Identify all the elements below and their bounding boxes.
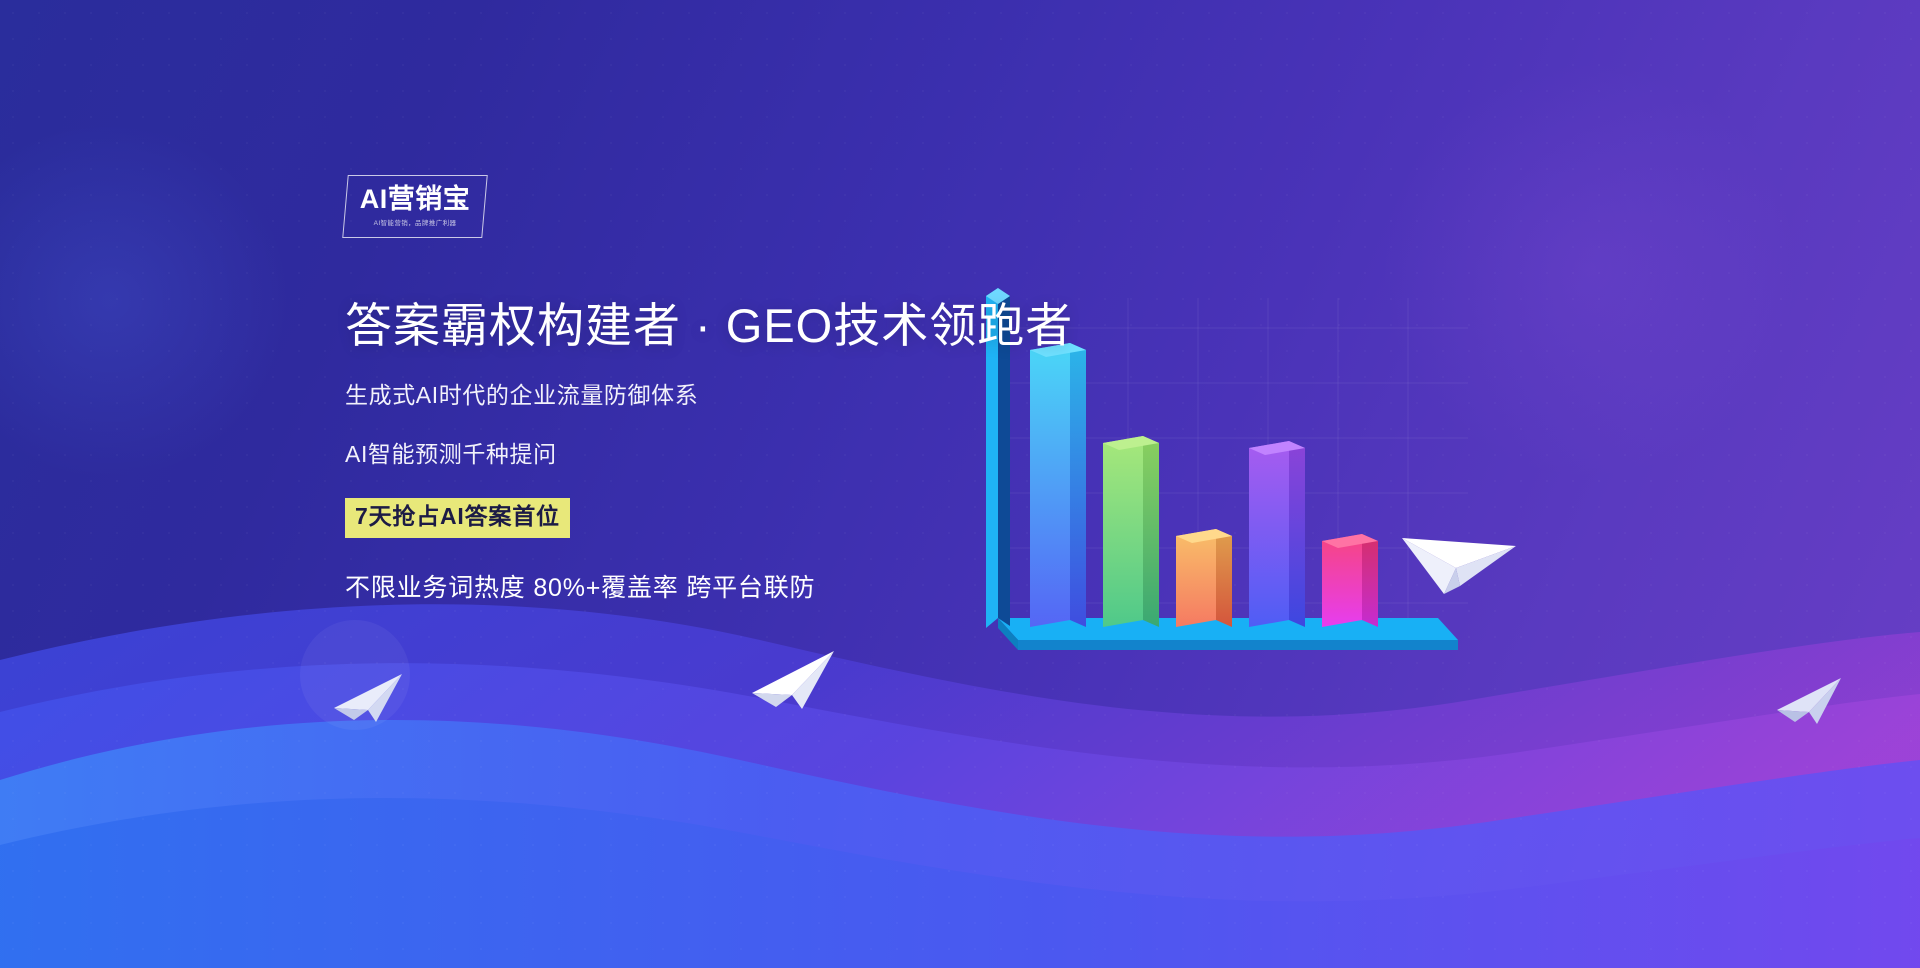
promo-banner: AI营销宝 AI智能营销，品牌推广利器 答案霸权构建者 · GEO技术领跑者 生… [0, 0, 1920, 968]
subtitle-line-1: 生成式AI时代的企业流量防御体系 [345, 380, 1065, 411]
decorative-circle [300, 620, 410, 730]
chart-bar-5 [1322, 534, 1378, 627]
highlight-badge: 7天抢占AI答案首位 [345, 498, 570, 537]
glow-accent-left [0, 120, 290, 480]
paper-plane-icon [746, 645, 838, 715]
paper-plane-icon [330, 668, 406, 726]
chart-bar-2 [1103, 436, 1159, 627]
chart-bar-3 [1176, 529, 1232, 627]
chart-bar-4 [1249, 441, 1305, 627]
banner-content: AI营销宝 AI智能营销，品牌推广利器 答案霸权构建者 · GEO技术领跑者 生… [345, 175, 1065, 604]
page-title: 答案霸权构建者 · GEO技术领跑者 [345, 298, 1065, 354]
paper-plane-icon [1773, 672, 1845, 728]
logo[interactable]: AI营销宝 AI智能营销，品牌推广利器 [345, 175, 485, 238]
logo-tagline: AI智能营销，品牌推广利器 [354, 217, 476, 227]
subtitle-line-2: AI智能预测千种提问 [345, 439, 1065, 470]
feature-summary: 不限业务词热度 80%+覆盖率 跨平台联防 [345, 568, 1065, 604]
highlight-wrapper: 7天抢占AI答案首位 [345, 498, 1065, 537]
logo-text: AI营销宝 [354, 184, 476, 214]
